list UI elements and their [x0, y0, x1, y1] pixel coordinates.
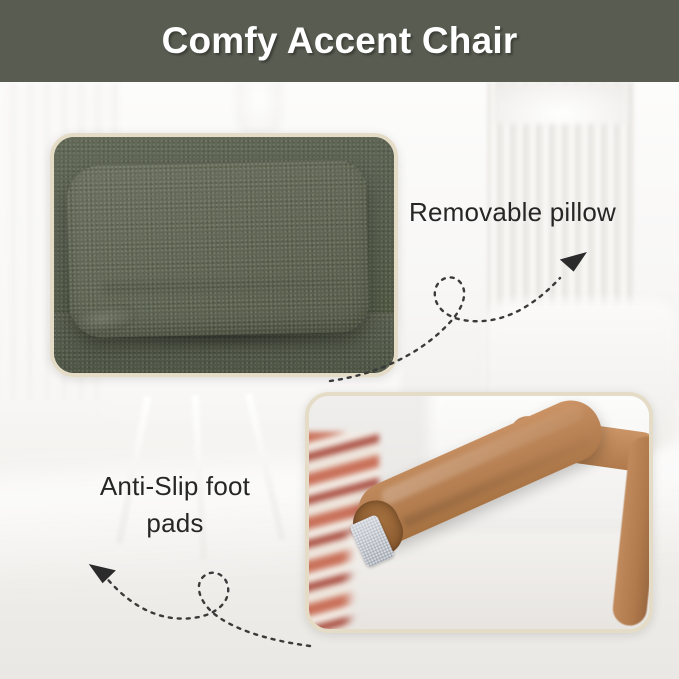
callout-label-line-1: Anti-Slip foot: [55, 468, 295, 505]
header-banner: Comfy Accent Chair: [0, 0, 679, 82]
callout-label-line-2: pads: [55, 505, 295, 542]
infographic-page: Comfy Accent Chair Removable pillow Anti…: [0, 0, 679, 679]
page-title: Comfy Accent Chair: [0, 0, 679, 82]
curved-dashed-arrow-icon: [104, 573, 310, 646]
callout-label-removable-pillow: Removable pillow: [409, 197, 616, 228]
arrow-head-bottom: [89, 560, 118, 584]
callout-label-anti-slip-foot-pads: Anti-Slip foot pads: [55, 468, 295, 542]
arrow-bottom: [0, 0, 679, 679]
